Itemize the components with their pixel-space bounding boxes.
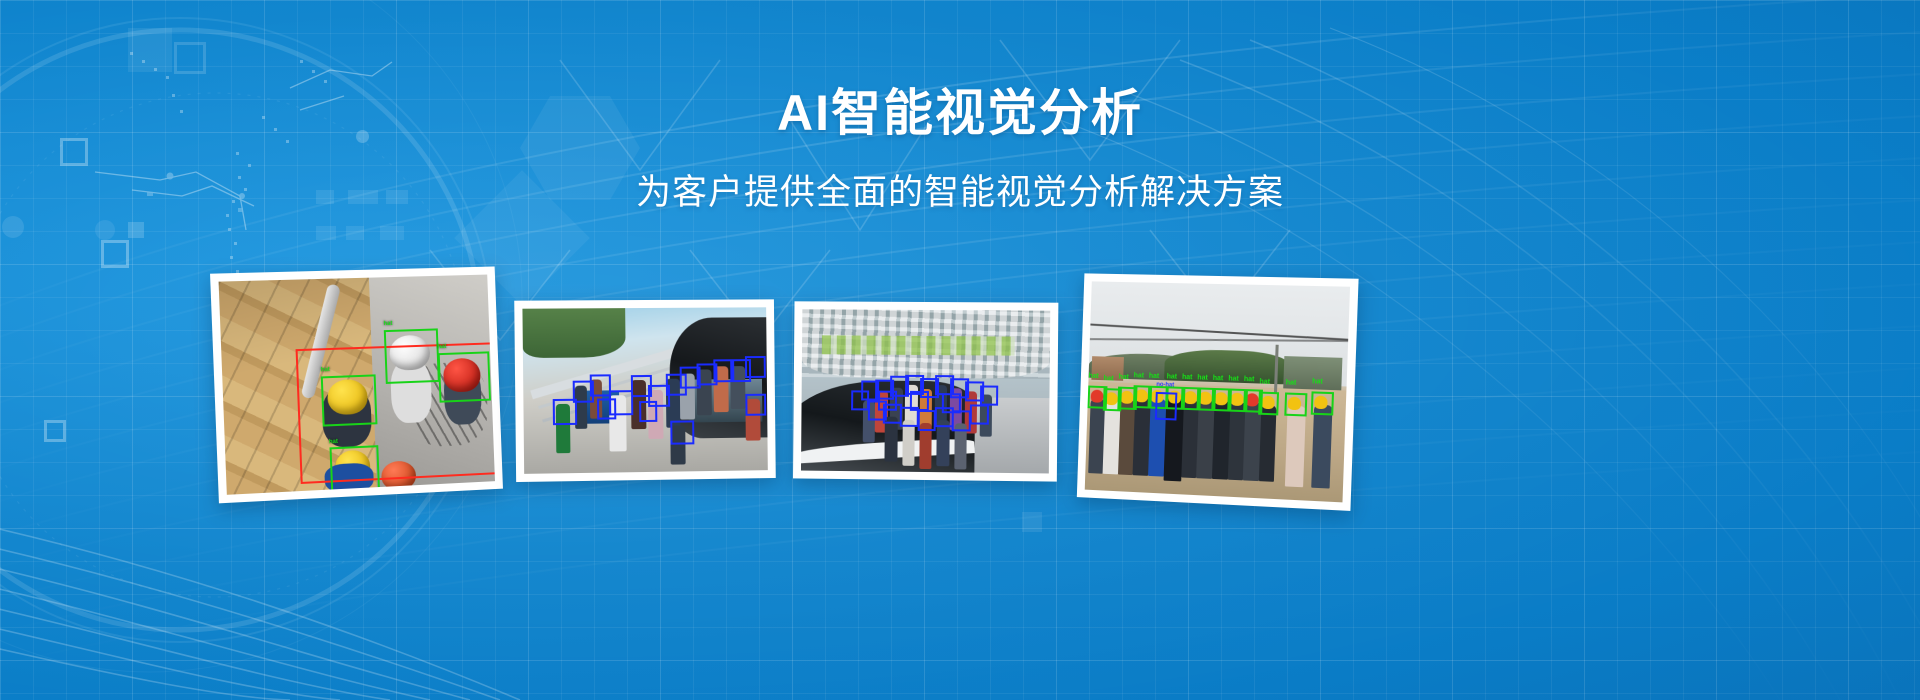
scene-overpass <box>522 307 767 474</box>
hat-label-6: hat <box>1167 374 1178 381</box>
card-photo-overpass <box>522 307 767 474</box>
detection-box-2 <box>384 328 440 384</box>
hat-box-12 <box>1258 392 1279 416</box>
person-box-18 <box>910 391 929 411</box>
detection-label-3: hat <box>437 344 446 350</box>
person-box-19 <box>942 393 961 413</box>
scene-warehouse: hat hat hat hat <box>219 275 495 495</box>
detection-label-4: hat <box>329 439 338 445</box>
scene-outdoor-group: hat hat hat hat hat hat hat hat <box>1085 281 1350 502</box>
canopy-green-gap <box>822 335 1015 356</box>
hat-label-14: hat <box>1312 378 1323 385</box>
card-photo-warehouse: hat hat hat hat <box>219 275 495 495</box>
hat-label-13: hat <box>1285 380 1296 387</box>
hat-label-1: hat <box>1088 373 1098 380</box>
hat-label-3: hat <box>1118 374 1128 381</box>
hat-box-13 <box>1284 392 1307 416</box>
face-box-13 <box>671 421 695 445</box>
face-box-14 <box>745 394 766 416</box>
no-hat-label: no-hat <box>1156 382 1174 389</box>
page-subtitle: 为客户提供全面的智能视觉分析解决方案 <box>0 164 1920 215</box>
hat-label-11: hat <box>1244 376 1255 383</box>
gallery-card-outdoor-hat-detection[interactable]: hat hat hat hat hat hat hat hat <box>1077 273 1359 511</box>
decor-filled-square-1 <box>128 222 144 238</box>
person-box-15 <box>952 411 971 431</box>
decor-filled-square-6 <box>346 226 364 240</box>
person-box-20 <box>851 390 870 410</box>
hero-headline-block: AI智能视觉分析 为客户提供全面的智能视觉分析解决方案 <box>0 86 1920 215</box>
card-photo-station <box>801 309 1050 473</box>
group-person-13 <box>1285 405 1306 487</box>
group-person-12 <box>1259 404 1277 481</box>
face-box-16 <box>639 401 658 422</box>
hat-label-7: hat <box>1182 374 1193 381</box>
background-trees <box>522 308 626 358</box>
detection-label-2: hat <box>383 321 392 327</box>
hat-label-2: hat <box>1103 376 1113 383</box>
person-box-13 <box>917 410 936 430</box>
decor-dot-3 <box>95 220 115 240</box>
detection-box-1 <box>321 374 378 426</box>
person-box-9 <box>980 385 999 405</box>
decor-filled-square-9 <box>128 28 172 72</box>
hat-label-10: hat <box>1228 376 1239 383</box>
face-box-12 <box>745 356 766 378</box>
detection-label-1: hat <box>321 367 330 373</box>
decor-dot-2 <box>2 216 24 238</box>
scene-station-platform <box>801 309 1050 473</box>
person-box-17 <box>878 391 897 411</box>
ai-vision-hero-banner: AI智能视觉分析 为客户提供全面的智能视觉分析解决方案 <box>0 0 1920 700</box>
hat-label-4: hat <box>1134 372 1144 379</box>
gallery-card-overpass-crowd-detection[interactable] <box>514 299 776 482</box>
hat-label-12: hat <box>1259 379 1270 386</box>
decor-filled-square-7 <box>380 226 404 240</box>
person-box-16 <box>969 404 988 424</box>
gallery-card-warehouse-helmet-detection[interactable]: hat hat hat hat <box>210 266 503 503</box>
decor-filled-square-5 <box>316 226 336 240</box>
hat-label-9: hat <box>1213 375 1224 382</box>
face-box-15 <box>597 399 616 420</box>
no-hat-box <box>1155 392 1178 420</box>
detection-box-4 <box>329 445 380 491</box>
card-photo-outdoor-group: hat hat hat hat hat hat hat hat <box>1085 281 1350 502</box>
face-box-3 <box>590 374 611 396</box>
showcase-gallery: hat hat hat hat <box>0 258 1920 518</box>
decor-outline-square-4 <box>174 42 206 74</box>
detection-box-3 <box>438 351 491 402</box>
hat-box-14 <box>1311 391 1334 415</box>
hat-label-5: hat <box>1149 373 1159 380</box>
page-title: AI智能视觉分析 <box>0 86 1920 140</box>
hat-label-8: hat <box>1197 375 1208 382</box>
group-person-14 <box>1311 404 1333 489</box>
gallery-card-station-crowd-detection[interactable] <box>793 301 1058 481</box>
